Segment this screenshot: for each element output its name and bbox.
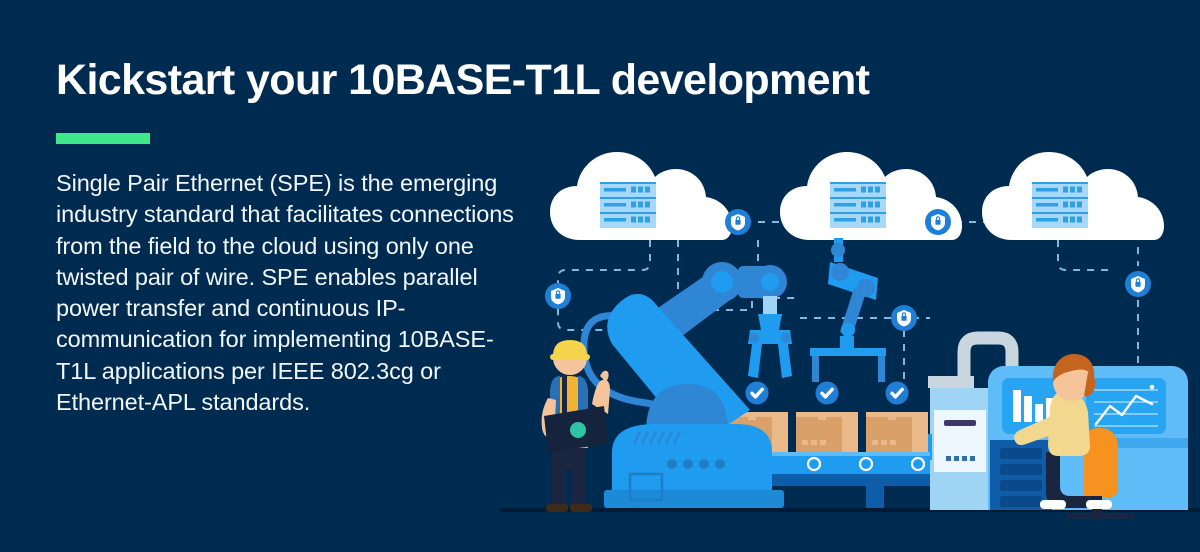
shield-badge-right-column: [1125, 271, 1151, 297]
standing-field-technician: [542, 340, 610, 512]
industrial-iot-illustration: [500, 0, 1200, 552]
package-2: [796, 382, 858, 453]
check-circle-icon: [816, 382, 839, 405]
line-chart-screen: [1086, 378, 1166, 434]
check-circle-icon: [746, 382, 769, 405]
page-title: Kickstart your 10BASE-T1L development: [56, 58, 526, 103]
cloud-server-right: [982, 152, 1164, 240]
small-robotic-arm: [810, 238, 886, 382]
shield-badge-left-column: [545, 283, 571, 309]
text-column: Kickstart your 10BASE-T1L development Si…: [56, 58, 526, 442]
shield-badge-between-cloud-2-3: [925, 209, 951, 235]
accent-divider: [56, 133, 150, 144]
shield-badge-center-arm: [891, 305, 917, 331]
shield-badge-between-cloud-1-2: [725, 209, 751, 235]
body-paragraph: Single Pair Ethernet (SPE) is the emergi…: [56, 168, 526, 418]
check-circle-icon: [886, 382, 909, 405]
cloud-server-left: [550, 152, 732, 240]
package-3: [866, 382, 928, 453]
infographic-banner: Kickstart your 10BASE-T1L development Si…: [0, 0, 1200, 552]
